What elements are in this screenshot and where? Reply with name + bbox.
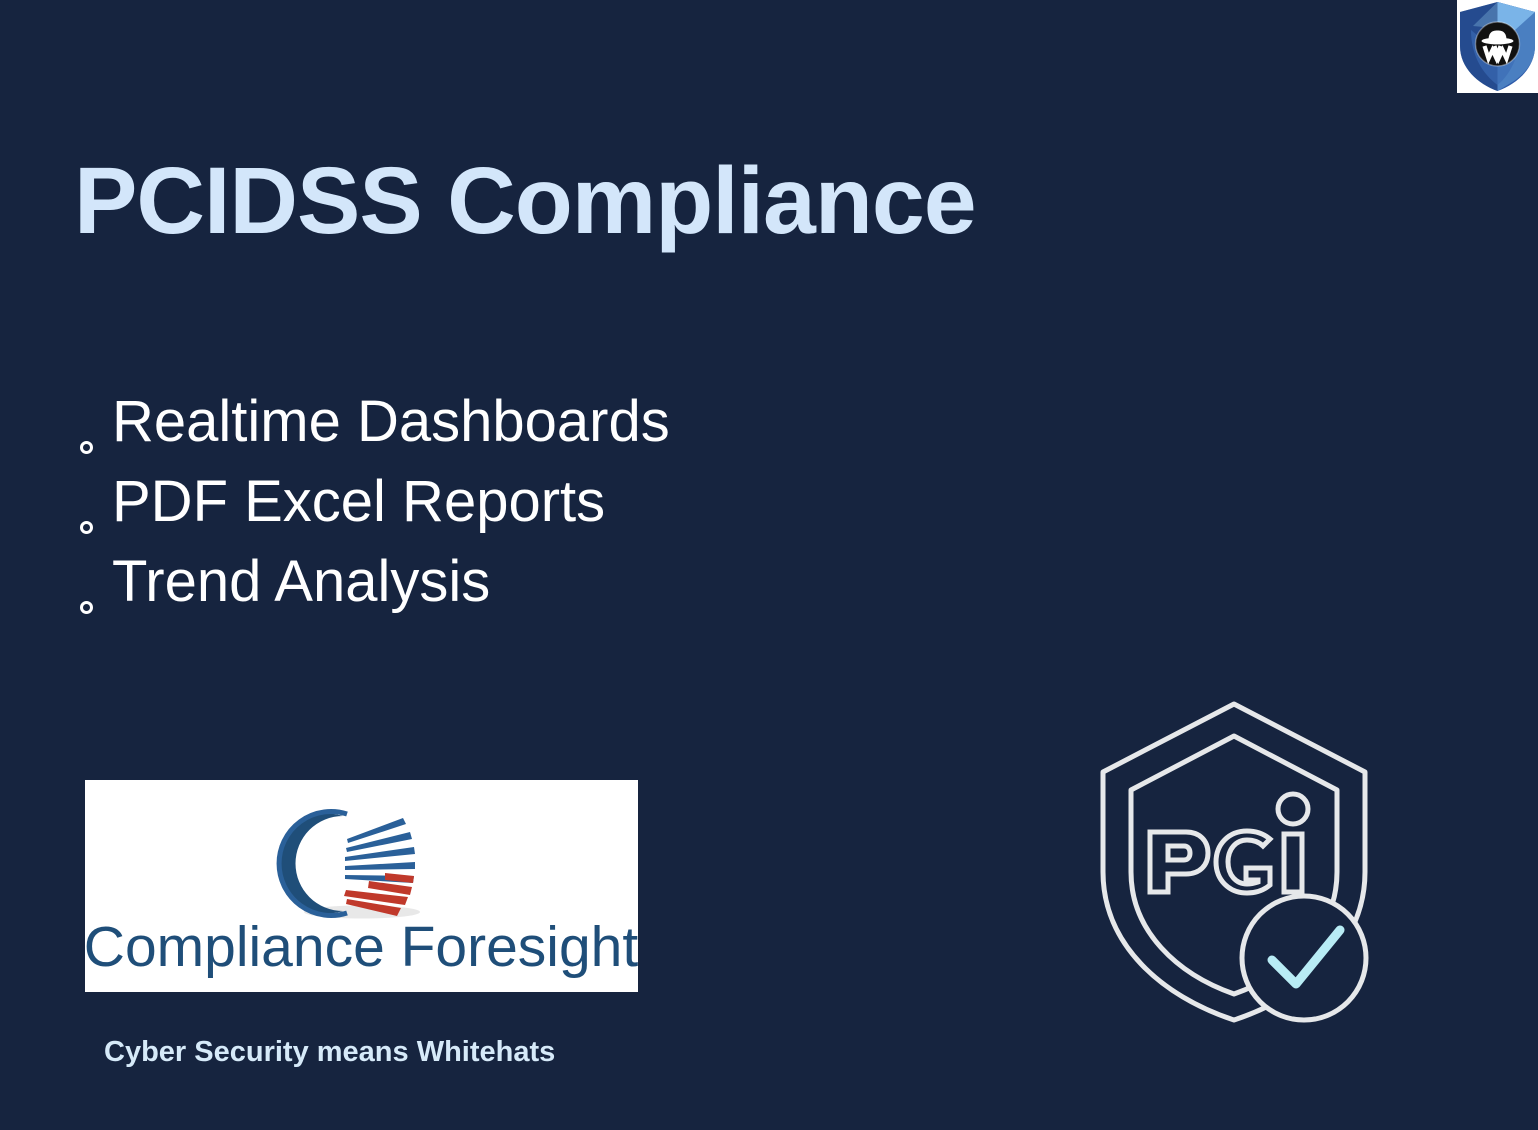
page-title: PCIDSS Compliance bbox=[74, 150, 976, 253]
compliance-foresight-logo: Compliance Foresight bbox=[85, 780, 638, 992]
pci-compliance-shield-icon bbox=[1074, 694, 1394, 1030]
slide-canvas: PCIDSS Compliance Realtime Dashboards PD… bbox=[0, 0, 1538, 1130]
feature-bullet-list: Realtime Dashboards PDF Excel Reports Tr… bbox=[74, 382, 670, 622]
whitehats-logo bbox=[1457, 0, 1538, 93]
tagline-text: Cyber Security means Whitehats bbox=[104, 1036, 555, 1069]
list-item-label: Realtime Dashboards bbox=[112, 382, 670, 462]
list-item: Trend Analysis bbox=[74, 542, 670, 622]
list-item: Realtime Dashboards bbox=[74, 382, 670, 462]
compliance-foresight-mark-icon: Compliance Foresight bbox=[85, 780, 638, 992]
compliance-foresight-wordmark: Compliance Foresight bbox=[85, 915, 638, 979]
whitehats-shield-icon bbox=[1457, 0, 1538, 93]
check-circle-icon bbox=[1242, 896, 1366, 1020]
list-item-label: PDF Excel Reports bbox=[112, 462, 605, 542]
list-item-label: Trend Analysis bbox=[112, 542, 490, 622]
list-item: PDF Excel Reports bbox=[74, 462, 670, 542]
pci-i-dot-icon bbox=[1278, 794, 1308, 824]
